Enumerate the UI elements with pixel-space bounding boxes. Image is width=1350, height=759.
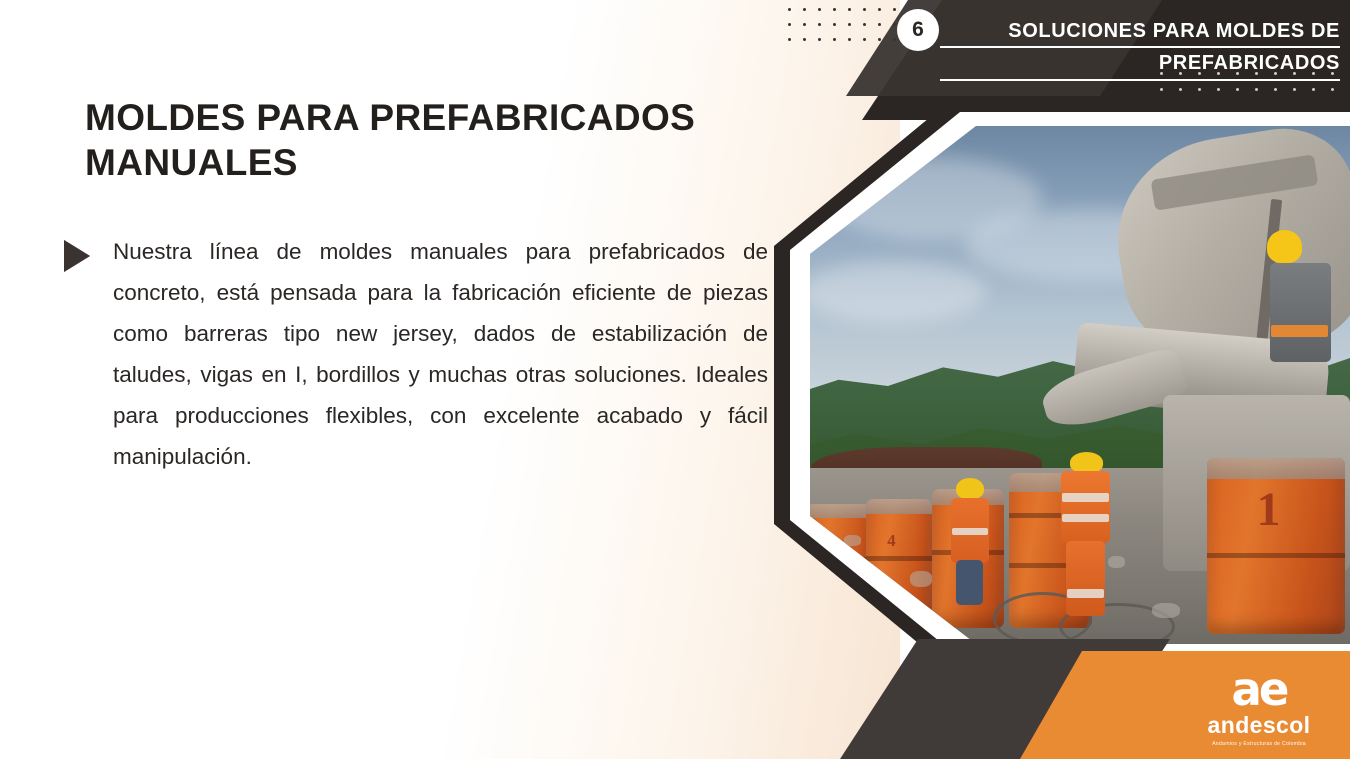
- photo-mold-large: 1: [1207, 458, 1345, 634]
- photo-worker-stripe: [1062, 514, 1109, 523]
- slide: MOLDES PARA PREFABRICADOS MANUALES Nuest…: [0, 0, 1350, 759]
- photo-gravel: [910, 571, 932, 587]
- photo-worker: [1262, 230, 1339, 437]
- photo-container: 5 4 1: [800, 126, 1350, 644]
- construction-photo: 5 4 1: [800, 126, 1350, 644]
- photo-mold-band: [866, 556, 932, 561]
- photo-worker-torso: [1270, 263, 1332, 362]
- photo-mold-band: [1207, 553, 1345, 558]
- photo-worker: [1059, 452, 1114, 623]
- photo-helmet-icon: [1267, 230, 1302, 263]
- logo: ae andescol Andamios y Estructuras de Co…: [1184, 670, 1334, 748]
- photo-mold-rim: [806, 504, 872, 518]
- photo-worker-legs: [1066, 541, 1105, 616]
- photo-cloud: [800, 261, 987, 323]
- photo-helmet-icon: [956, 478, 983, 499]
- body-block: Nuestra línea de moldes manuales para pr…: [113, 232, 768, 478]
- header-title-line1: SOLUCIONES PARA MOLDES DE: [940, 18, 1340, 48]
- photo-gravel: [1152, 603, 1180, 619]
- logo-mark-ae: ae: [1184, 670, 1334, 711]
- photo-worker: [949, 478, 993, 602]
- page-title: MOLDES PARA PREFABRICADOS MANUALES: [85, 95, 765, 185]
- triangle-bullet-icon: [64, 240, 90, 272]
- photo-worker-stripe: [1062, 493, 1109, 502]
- header-title: SOLUCIONES PARA MOLDES DE PREFABRICADOS: [940, 18, 1340, 81]
- logo-name: andescol: [1184, 712, 1334, 739]
- photo-worker-stripe: [1067, 589, 1103, 598]
- photo-mold-rim: [1207, 458, 1345, 479]
- photo-worker-legs: [956, 560, 983, 605]
- photo-worker-stripe: [952, 528, 988, 535]
- photo-worker-stripe: [1271, 325, 1328, 337]
- photo-worker-torso: [1061, 471, 1111, 543]
- page-number-badge: 6: [897, 9, 939, 51]
- photo-mold-number: 4: [887, 531, 896, 551]
- header-title-line2: PREFABRICADOS: [940, 50, 1340, 80]
- photo-mold-number: 1: [1257, 482, 1281, 537]
- logo-tagline: Andamios y Estructuras de Colombia: [1184, 741, 1334, 747]
- photo-gravel: [844, 535, 861, 545]
- photo-mold-rim: [866, 499, 932, 514]
- photo-gravel: [1108, 556, 1125, 568]
- body-paragraph: Nuestra línea de moldes manuales para pr…: [113, 232, 768, 478]
- photo-helmet-icon: [1070, 452, 1103, 473]
